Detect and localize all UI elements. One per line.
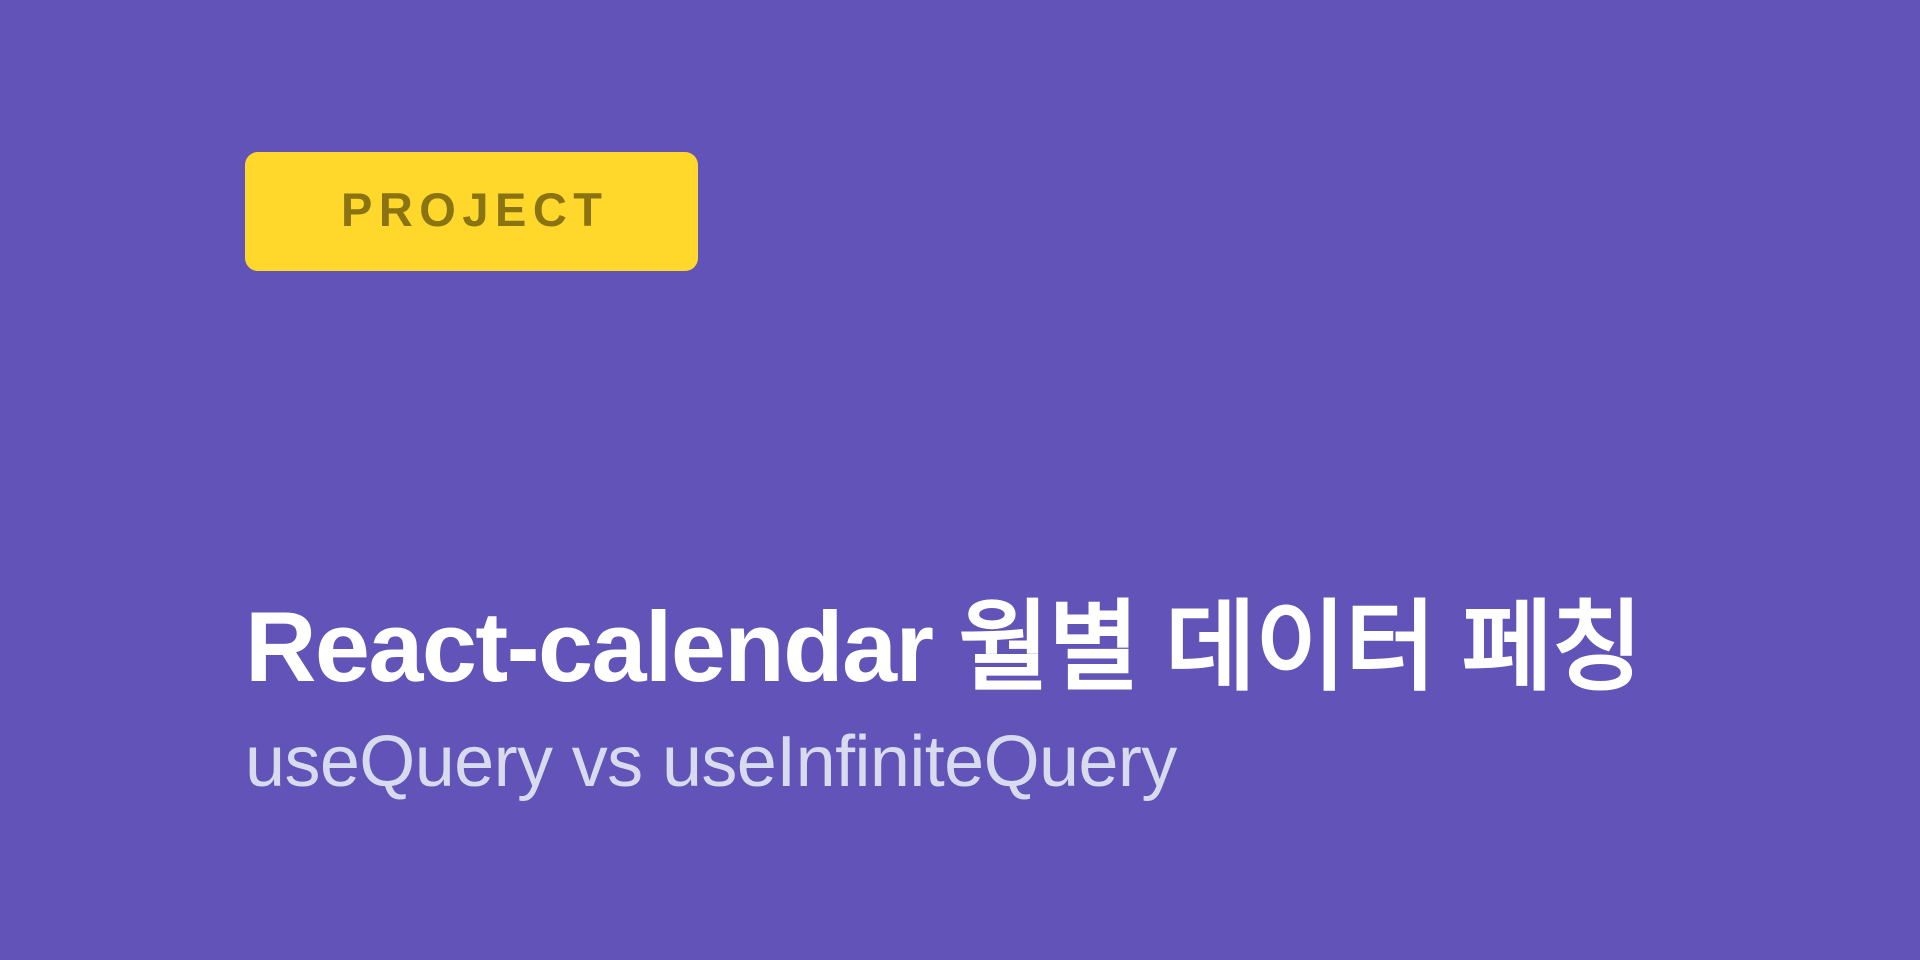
category-badge-label: PROJECT	[335, 186, 609, 233]
badge-row: PROJECT	[245, 152, 698, 271]
page-subtitle: useQuery vs useInfiniteQuery	[245, 719, 1845, 805]
category-badge[interactable]: PROJECT	[245, 152, 698, 271]
page-title-korean: 월별 데이터 페칭	[958, 591, 1642, 702]
page-title-latin: React-calendar	[245, 591, 932, 702]
title-text-block: React-calendar 월별 데이터 페칭 useQuery vs use…	[245, 590, 1845, 805]
page-title: React-calendar 월별 데이터 페칭	[245, 590, 1845, 705]
project-thumbnail-card: PROJECT React-calendar 월별 데이터 페칭 useQuer…	[0, 0, 1920, 960]
